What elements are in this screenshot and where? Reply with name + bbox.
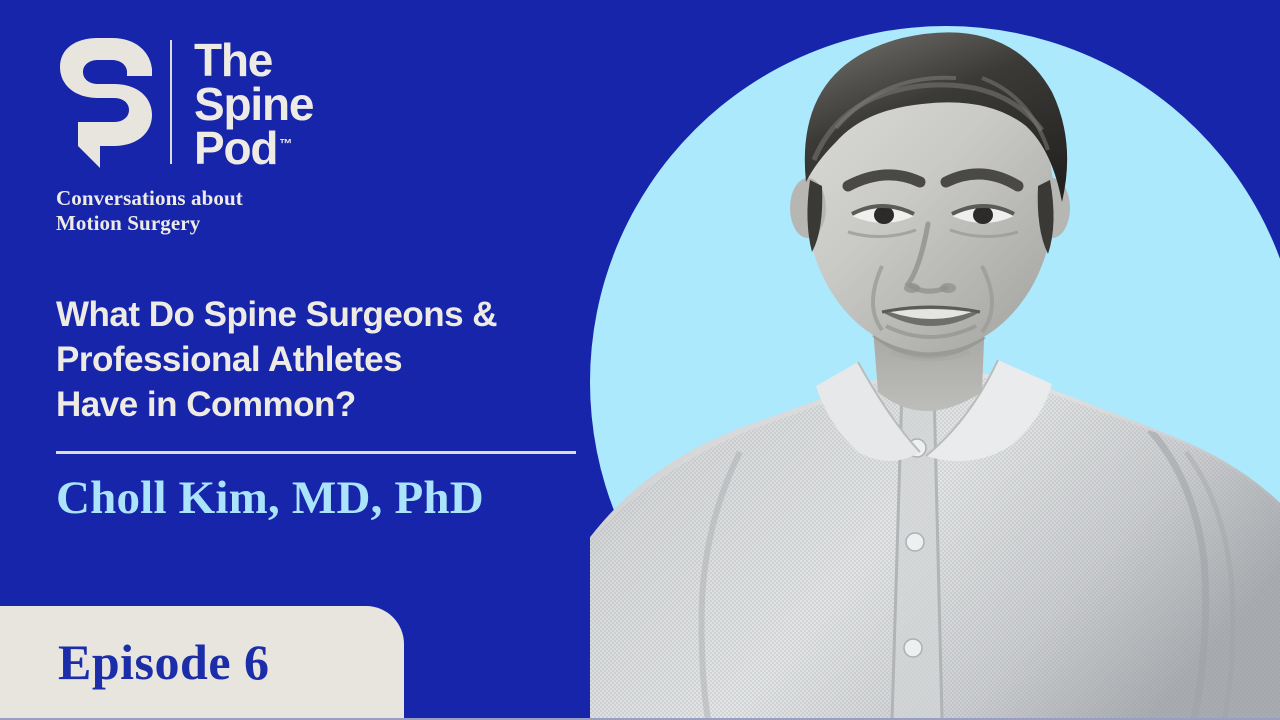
trademark-symbol: ™ bbox=[279, 136, 292, 151]
brand-divider-rule bbox=[170, 40, 172, 164]
brand-word-spine: Spine bbox=[194, 82, 313, 126]
guest-portrait bbox=[590, 0, 1280, 720]
episode-number-badge: Episode 6 bbox=[0, 606, 404, 718]
brand-tagline: Conversations about Motion Surgery bbox=[56, 186, 386, 236]
brand-word-pod: Pod bbox=[194, 122, 277, 174]
title-divider bbox=[56, 451, 576, 454]
episode-title-line-3: Have in Common? bbox=[56, 383, 596, 428]
episode-title: What Do Spine Surgeons & Professional At… bbox=[56, 293, 596, 427]
guest-name: Choll Kim, MD, PhD bbox=[56, 473, 484, 525]
brand-wordmark: The Spine Pod™ bbox=[194, 36, 313, 170]
podcast-episode-cover: The Spine Pod™ Conversations about Motio… bbox=[0, 0, 1280, 720]
tagline-line-2: Motion Surgery bbox=[56, 211, 386, 236]
spine-s-speech-bubble-icon bbox=[56, 36, 154, 170]
episode-number-label: Episode 6 bbox=[58, 637, 270, 687]
episode-title-line-2: Professional Athletes bbox=[56, 338, 596, 383]
brand-lockup: The Spine Pod™ bbox=[56, 36, 313, 170]
episode-title-line-1: What Do Spine Surgeons & bbox=[56, 293, 596, 338]
tagline-line-1: Conversations about bbox=[56, 186, 386, 211]
brand-word-the: The bbox=[194, 38, 313, 82]
brand-word-pod-row: Pod™ bbox=[194, 126, 313, 170]
